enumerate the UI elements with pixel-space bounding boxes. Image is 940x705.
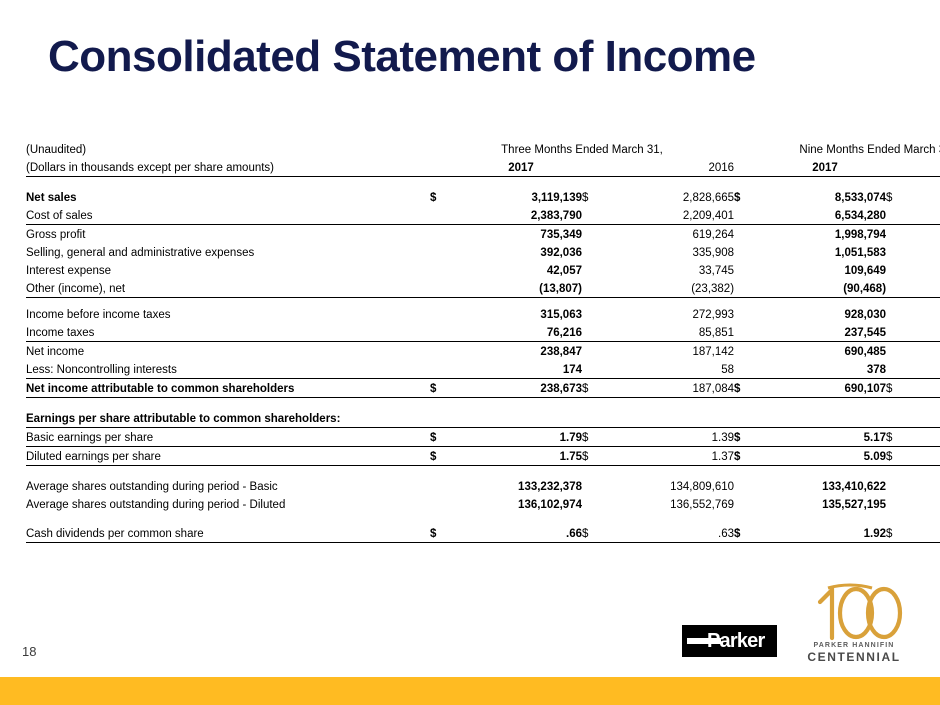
currency-symbol: $	[582, 447, 612, 466]
row-label: Gross profit	[26, 225, 430, 244]
row-value: 6,534,280	[764, 206, 886, 225]
page-number: 18	[22, 644, 36, 659]
row-label: Income taxes	[26, 323, 430, 342]
table-row-total: Net income attributable to common shareh…	[26, 379, 940, 398]
row-label: Net income	[26, 342, 430, 361]
row-value: 136,102,974	[460, 495, 582, 513]
table-row: Interest expense 42,057 33,745 109,649 1…	[26, 261, 940, 279]
row-label: Selling, general and administrative expe…	[26, 243, 430, 261]
row-value: 378	[764, 360, 886, 379]
row-value: 272,993	[612, 305, 734, 323]
row-value: 187,142	[612, 342, 734, 361]
year-header-ytd-2016: 2016	[908, 158, 940, 177]
caption-unaudited: (Unaudited)	[26, 140, 430, 158]
row-label: Cost of sales	[26, 206, 430, 225]
row-value: 4.16	[908, 428, 940, 447]
currency-symbol: $	[430, 524, 460, 543]
row-value: 85,851	[612, 323, 734, 342]
row-value: 133,410,622	[764, 477, 886, 495]
row-value: 238,847	[460, 342, 582, 361]
group-header-three-months: Three Months Ended March 31,	[430, 140, 734, 158]
centennial-100-icon	[798, 582, 910, 642]
currency-symbol: $	[734, 188, 764, 206]
row-value: 2,383,790	[460, 206, 582, 225]
row-value: 778,522	[908, 305, 940, 323]
row-value: 565,305	[908, 342, 940, 361]
row-value: 1,020,788	[908, 243, 940, 261]
table-row: Average shares outstanding during period…	[26, 495, 940, 513]
row-value: 1.79	[460, 428, 582, 447]
page-title: Consolidated Statement of Income	[48, 32, 756, 82]
row-value: (90,468)	[764, 279, 886, 298]
currency-symbol: $	[430, 188, 460, 206]
parker-logo: Parker	[682, 625, 777, 657]
row-value: 392,036	[460, 243, 582, 261]
financial-table: (Unaudited) Three Months Ended March 31,…	[26, 140, 940, 543]
table-row: Net sales $ 3,119,139 $ 2,828,665 $ 8,53…	[26, 188, 940, 206]
row-value: 33,745	[612, 261, 734, 279]
row-value: 5.09	[764, 447, 886, 466]
row-value: 237,545	[764, 323, 886, 342]
currency-symbol: $	[734, 447, 764, 466]
row-value: 735,349	[460, 225, 582, 244]
table-row: Gross profit 735,349 619,264 1,998,794 1…	[26, 225, 940, 244]
row-value: 213,217	[908, 323, 940, 342]
row-value: 1.39	[612, 428, 734, 447]
currency-symbol: $	[430, 447, 460, 466]
table-header-groups: (Unaudited) Three Months Ended March 31,…	[26, 140, 940, 158]
row-value: 565,044	[908, 379, 940, 398]
row-label: Net income attributable to common shareh…	[26, 379, 430, 398]
currency-symbol: $	[582, 379, 612, 398]
row-value: 58	[612, 360, 734, 379]
row-value: 1,051,583	[764, 243, 886, 261]
bottom-accent-bar	[0, 677, 940, 705]
row-value: 2,828,665	[612, 188, 734, 206]
row-value: 690,485	[764, 342, 886, 361]
row-label: Diluted earnings per share	[26, 447, 430, 466]
row-value: .63	[612, 524, 734, 543]
row-value: 261	[908, 360, 940, 379]
row-label: Interest expense	[26, 261, 430, 279]
row-value: 2,209,401	[612, 206, 734, 225]
row-value: 187,084	[612, 379, 734, 398]
table-row: Cost of sales 2,383,790 2,209,401 6,534,…	[26, 206, 940, 225]
row-value: 76,216	[460, 323, 582, 342]
table-row: Diluted earnings per share $ 1.75 $ 1.37…	[26, 447, 940, 466]
spacer	[26, 466, 940, 478]
row-value: 109,649	[764, 261, 886, 279]
row-value: 103,802	[908, 261, 940, 279]
currency-symbol: $	[430, 428, 460, 447]
section-heading-eps: Earnings per share attributable to commo…	[26, 409, 940, 428]
row-value: 133,232,378	[460, 477, 582, 495]
table-row: Average shares outstanding during period…	[26, 477, 940, 495]
currency-symbol: $	[734, 428, 764, 447]
year-header-ytd-2017: 2017	[764, 158, 886, 177]
currency-symbol: $	[886, 379, 908, 398]
currency-symbol: $	[582, 188, 612, 206]
currency-symbol: $	[582, 524, 612, 543]
row-value: 928,030	[764, 305, 886, 323]
row-value: 1,998,794	[764, 225, 886, 244]
slide: Consolidated Statement of Income (Unaudi…	[0, 0, 940, 705]
row-value: 690,107	[764, 379, 886, 398]
table-section-heading: Earnings per share attributable to commo…	[26, 409, 940, 428]
caption-dollars: (Dollars in thousands except per share a…	[26, 158, 430, 177]
spacer	[26, 513, 940, 524]
year-header-q-2017: 2017	[460, 158, 582, 177]
row-value: 136,552,769	[612, 495, 734, 513]
currency-symbol: $	[886, 188, 908, 206]
row-value: 6,550,929	[908, 206, 940, 225]
row-value: 8,533,074	[764, 188, 886, 206]
centennial-logo: PARKER HANNIFIN CENTENNIAL	[798, 582, 910, 668]
row-label: Other (income), net	[26, 279, 430, 298]
spacer	[26, 398, 940, 410]
row-value: 4.12	[908, 447, 940, 466]
row-value: 1,852,674	[908, 225, 940, 244]
row-value: 238,673	[460, 379, 582, 398]
row-label: Cash dividends per common share	[26, 524, 430, 543]
centennial-wordmark: CENTENNIAL	[798, 650, 910, 664]
row-label: Basic earnings per share	[26, 428, 430, 447]
row-value: 619,264	[612, 225, 734, 244]
group-header-nine-months: Nine Months Ended March 31,	[734, 140, 940, 158]
table-row: Net income 238,847 187,142 690,485 565,3…	[26, 342, 940, 361]
row-value: (50,438)	[908, 279, 940, 298]
spacer	[26, 177, 940, 189]
row-value: 3,119,139	[460, 188, 582, 206]
spacer	[26, 298, 940, 306]
row-value: (23,382)	[612, 279, 734, 298]
row-label: Less: Noncontrolling interests	[26, 360, 430, 379]
table-row: Income taxes 76,216 85,851 237,545 213,2…	[26, 323, 940, 342]
currency-symbol: $	[734, 524, 764, 543]
row-value: 1.75	[460, 447, 582, 466]
row-value: 8,403,603	[908, 188, 940, 206]
row-value: 174	[460, 360, 582, 379]
row-value: (13,807)	[460, 279, 582, 298]
year-header-q-2016: 2016	[612, 158, 734, 177]
row-value: 1.37	[612, 447, 734, 466]
table-row: Income before income taxes 315,063 272,9…	[26, 305, 940, 323]
row-value: 135,675,823	[908, 477, 940, 495]
table-row: Other (income), net (13,807) (23,382) (9…	[26, 279, 940, 298]
row-value: 134,809,610	[612, 477, 734, 495]
row-label: Income before income taxes	[26, 305, 430, 323]
row-label: Net sales	[26, 188, 430, 206]
row-value: 1.89	[908, 524, 940, 543]
table-header-years: (Dollars in thousands except per share a…	[26, 158, 940, 177]
table-row: Less: Noncontrolling interests 174 58 37…	[26, 360, 940, 379]
income-statement-table: (Unaudited) Three Months Ended March 31,…	[26, 140, 920, 543]
row-value: 315,063	[460, 305, 582, 323]
row-value: 42,057	[460, 261, 582, 279]
currency-symbol: $	[430, 379, 460, 398]
currency-symbol: $	[886, 524, 908, 543]
row-label: Average shares outstanding during period…	[26, 495, 430, 513]
table-row: Basic earnings per share $ 1.79 $ 1.39 $…	[26, 428, 940, 447]
currency-symbol: $	[886, 447, 908, 466]
row-value: 1.92	[764, 524, 886, 543]
row-value: 5.17	[764, 428, 886, 447]
table-row: Selling, general and administrative expe…	[26, 243, 940, 261]
row-value: 335,908	[612, 243, 734, 261]
row-label: Average shares outstanding during period…	[26, 477, 430, 495]
table-row: Cash dividends per common share $ .66 $ …	[26, 524, 940, 543]
row-value: 135,527,195	[764, 495, 886, 513]
row-value: 137,311,848	[908, 495, 940, 513]
currency-symbol: $	[582, 428, 612, 447]
parker-wordmark: Parker	[707, 628, 764, 654]
row-value: .66	[460, 524, 582, 543]
centennial-tagline: PARKER HANNIFIN	[798, 642, 910, 649]
currency-symbol: $	[886, 428, 908, 447]
currency-symbol: $	[734, 379, 764, 398]
